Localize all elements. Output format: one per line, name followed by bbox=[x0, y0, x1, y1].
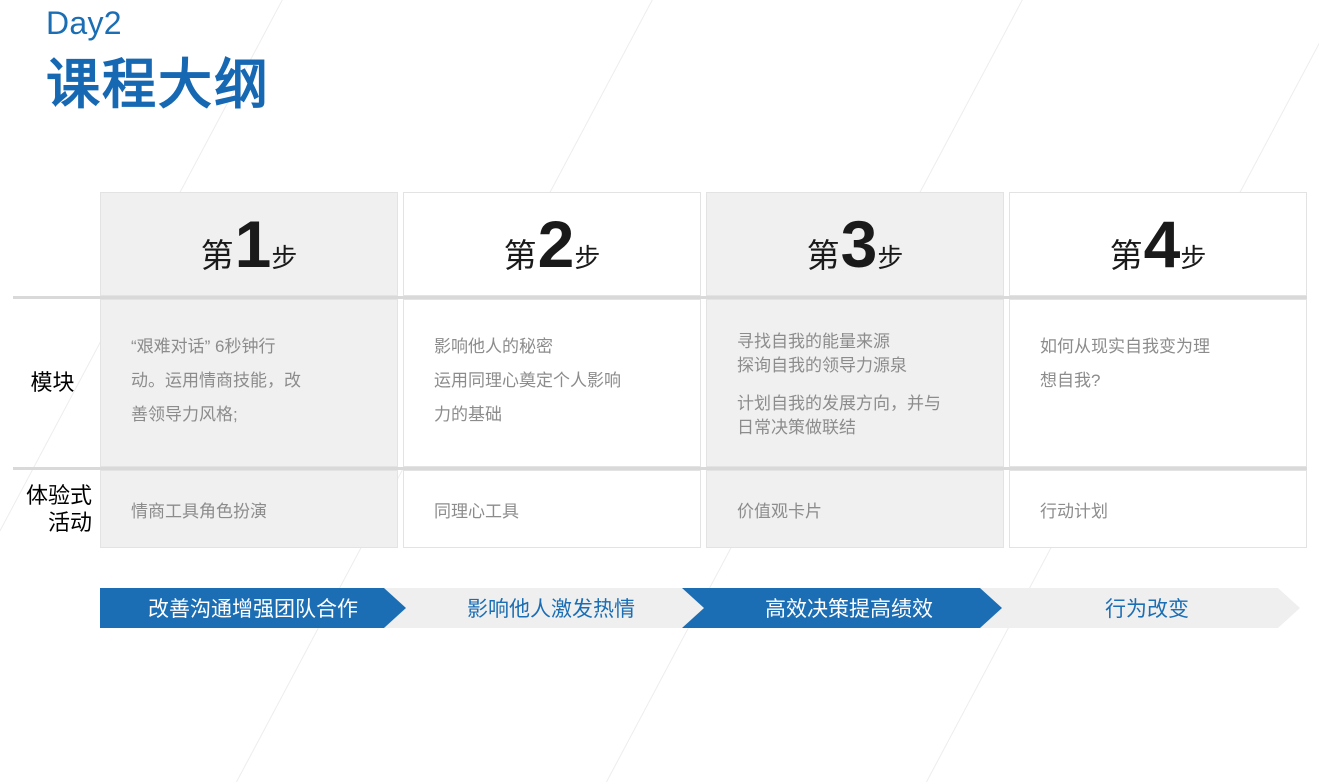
page-title: 课程大纲 bbox=[46, 57, 270, 114]
module-cell-2[interactable]: 影响他人的秘密 运用同理心奠定个人影响 力的基础 bbox=[403, 299, 701, 467]
table-module-row: 模块 “艰难对话” 6秒钟行 动。运用情商技能，改 善领导力风格; 影响他人的秘… bbox=[13, 299, 1307, 467]
module-line: 影响他人的秘密 bbox=[434, 337, 553, 356]
module-cells: “艰难对话” 6秒钟行 动。运用情商技能，改 善领导力风格; 影响他人的秘密 运… bbox=[100, 299, 1307, 467]
step-prefix-label: 第 bbox=[1110, 239, 1143, 272]
row-label-activity-line1: 体验式 bbox=[26, 482, 92, 510]
module-line: 如何从现实自我变为理 bbox=[1040, 337, 1210, 356]
chevron-step-2[interactable]: 影响他人激发热情 bbox=[384, 588, 704, 628]
module-cell-3[interactable]: 寻找自我的能量来源 探询自我的领导力源泉 计划自我的发展方向，并与 日常决策做联… bbox=[706, 299, 1004, 467]
module-line: “艰难对话” 6秒钟行 bbox=[131, 337, 276, 356]
step-suffix-label: 步 bbox=[1180, 245, 1206, 271]
step-prefix-label: 第 bbox=[201, 239, 234, 272]
chevron-step-3[interactable]: 高效决策提高绩效 bbox=[682, 588, 1002, 628]
step-number-3: 第 3 步 bbox=[807, 211, 904, 277]
step-suffix-label: 步 bbox=[574, 245, 600, 271]
step-prefix-label: 第 bbox=[807, 239, 840, 272]
activity-cell-text: 行动计划 bbox=[1040, 497, 1108, 522]
chevron-step-1[interactable]: 改善沟通增强团队合作 bbox=[100, 588, 406, 628]
step-number-value: 2 bbox=[538, 211, 574, 277]
module-line: 想自我? bbox=[1040, 371, 1100, 390]
chevron-label: 高效决策提高绩效 bbox=[765, 593, 933, 623]
activity-cells: 情商工具角色扮演 同理心工具 价值观卡片 行动计划 bbox=[100, 470, 1307, 548]
module-line: 计划自我的发展方向，并与 bbox=[737, 394, 941, 413]
course-outline-table: 第 1 步 第 2 步 第 3 步 bbox=[13, 192, 1307, 548]
title-block: Day2 课程大纲 bbox=[46, 6, 270, 114]
module-blank-line bbox=[737, 378, 981, 392]
module-line: 动。运用情商技能，改 bbox=[131, 371, 301, 390]
module-cell-text: 如何从现实自我变为理 想自我? bbox=[1040, 330, 1284, 398]
module-line: 寻找自我的能量来源 bbox=[737, 332, 890, 351]
step-number-4: 第 4 步 bbox=[1110, 211, 1207, 277]
outcome-chevron-banner: 改善沟通增强团队合作 影响他人激发热情 高效决策提高绩效 行为改变 bbox=[100, 588, 1300, 628]
step-header-cell-1[interactable]: 第 1 步 bbox=[100, 192, 398, 296]
module-line: 善领导力风格; bbox=[131, 405, 238, 424]
header-row-label-spacer bbox=[13, 192, 100, 296]
step-number-2: 第 2 步 bbox=[504, 211, 601, 277]
row-label-activity-line2: 活动 bbox=[48, 509, 92, 537]
chevron-label: 行为改变 bbox=[1105, 593, 1189, 623]
step-suffix-label: 步 bbox=[877, 245, 903, 271]
module-cell-text: 影响他人的秘密 运用同理心奠定个人影响 力的基础 bbox=[434, 330, 678, 432]
activity-cell-1[interactable]: 情商工具角色扮演 bbox=[100, 470, 398, 548]
row-label-module: 模块 bbox=[13, 299, 100, 467]
slide-canvas: Day2 课程大纲 第 1 步 第 2 步 bbox=[0, 0, 1319, 638]
activity-cell-4[interactable]: 行动计划 bbox=[1009, 470, 1307, 548]
activity-cell-3[interactable]: 价值观卡片 bbox=[706, 470, 1004, 548]
step-header-cell-2[interactable]: 第 2 步 bbox=[403, 192, 701, 296]
chevron-step-4[interactable]: 行为改变 bbox=[980, 588, 1300, 628]
module-line: 力的基础 bbox=[434, 405, 502, 424]
chevron-label: 改善沟通增强团队合作 bbox=[148, 593, 358, 623]
module-cell-text: 寻找自我的能量来源 探询自我的领导力源泉 计划自我的发展方向，并与 日常决策做联… bbox=[737, 330, 981, 441]
module-cell-4[interactable]: 如何从现实自我变为理 想自我? bbox=[1009, 299, 1307, 467]
module-cell-text: “艰难对话” 6秒钟行 动。运用情商技能，改 善领导力风格; bbox=[131, 330, 375, 432]
module-line: 运用同理心奠定个人影响 bbox=[434, 371, 621, 390]
chevron-label: 影响他人激发热情 bbox=[467, 593, 635, 623]
row-label-activity: 体验式 活动 bbox=[13, 470, 100, 548]
step-number-value: 3 bbox=[841, 211, 877, 277]
step-suffix-label: 步 bbox=[271, 245, 297, 271]
activity-cell-text: 价值观卡片 bbox=[737, 497, 822, 522]
step-header-cell-3[interactable]: 第 3 步 bbox=[706, 192, 1004, 296]
day-label: Day2 bbox=[46, 6, 270, 41]
step-number-value: 4 bbox=[1144, 211, 1180, 277]
activity-cell-2[interactable]: 同理心工具 bbox=[403, 470, 701, 548]
activity-cell-text: 同理心工具 bbox=[434, 497, 519, 522]
step-prefix-label: 第 bbox=[504, 239, 537, 272]
step-header-cell-4[interactable]: 第 4 步 bbox=[1009, 192, 1307, 296]
header-cells: 第 1 步 第 2 步 第 3 步 bbox=[100, 192, 1307, 296]
table-header-row: 第 1 步 第 2 步 第 3 步 bbox=[13, 192, 1307, 296]
activity-cell-text: 情商工具角色扮演 bbox=[131, 497, 267, 522]
module-line: 探询自我的领导力源泉 bbox=[737, 356, 907, 375]
step-number-value: 1 bbox=[235, 211, 271, 277]
table-activity-row: 体验式 活动 情商工具角色扮演 同理心工具 价值观卡片 行动计划 bbox=[13, 470, 1307, 548]
module-cell-1[interactable]: “艰难对话” 6秒钟行 动。运用情商技能，改 善领导力风格; bbox=[100, 299, 398, 467]
step-number-1: 第 1 步 bbox=[201, 211, 298, 277]
module-line: 日常决策做联结 bbox=[737, 418, 856, 437]
